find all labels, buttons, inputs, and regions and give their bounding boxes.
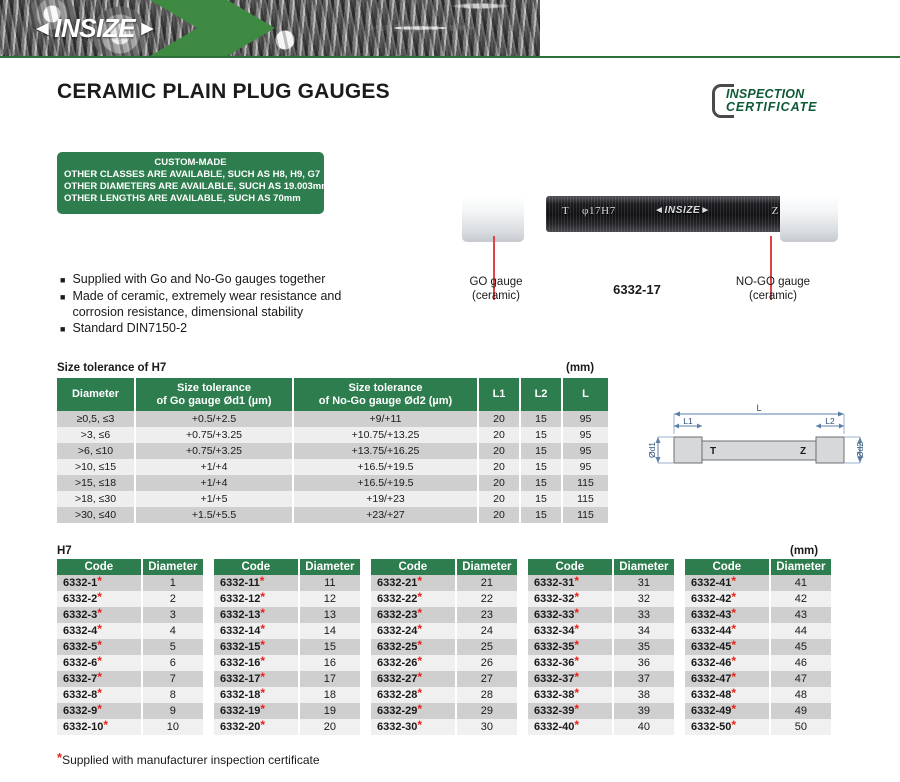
code-cell: 6332-22* xyxy=(371,591,456,607)
code-table-group: CodeDiameter6332-31*316332-32*326332-33*… xyxy=(528,559,674,735)
custom-made-title: CUSTOM-MADE xyxy=(64,157,317,169)
code-table-row: 6332-49*49 xyxy=(685,703,831,719)
code-value: 6332-4 xyxy=(63,625,97,637)
logo-wordmark: INSIZE xyxy=(54,13,135,44)
diameter-cell: 19 xyxy=(299,703,360,719)
td-l1: 20 xyxy=(478,491,520,507)
td-nogo: +9/+11 xyxy=(293,411,478,427)
diameter-cell: 31 xyxy=(613,575,674,591)
custom-made-line-1: OTHER CLASSES ARE AVAILABLE, SUCH AS H8,… xyxy=(64,169,317,181)
certificate-asterisk-icon: * xyxy=(574,702,579,716)
code-cell: 6332-7* xyxy=(57,671,142,687)
certificate-asterisk-icon: * xyxy=(574,606,579,620)
code-value: 6332-29 xyxy=(377,705,417,717)
code-value: 6332-26 xyxy=(377,657,417,669)
tolerance-row: ≥0,5, ≤3+0.5/+2.5+9/+11201595 xyxy=(57,411,608,427)
diameter-cell: 47 xyxy=(770,671,831,687)
code-table-row: 6332-14*14 xyxy=(214,623,360,639)
td-l2: 15 xyxy=(520,411,562,427)
diameter-cell: 21 xyxy=(456,575,517,591)
diameter-cell: 22 xyxy=(456,591,517,607)
diameter-cell: 15 xyxy=(299,639,360,655)
code-value: 6332-30 xyxy=(377,721,417,733)
code-value: 6332-2 xyxy=(63,593,97,605)
td-go: +1/+4 xyxy=(135,475,293,491)
code-value: 6332-32 xyxy=(534,593,574,605)
code-table-row: 6332-21*21 xyxy=(371,575,517,591)
diameter-cell: 20 xyxy=(299,719,360,735)
td-l2: 15 xyxy=(520,459,562,475)
code-value: 6332-14 xyxy=(220,625,260,637)
code-tables-unit-label: (mm) xyxy=(790,545,818,557)
code-table-row: 6332-22*22 xyxy=(371,591,517,607)
th-diameter: Diameter xyxy=(770,559,831,575)
code-value: 6332-43 xyxy=(691,609,731,621)
code-value: 6332-3 xyxy=(63,609,97,621)
code-table-row: 6332-4*4 xyxy=(57,623,203,639)
code-value: 6332-20 xyxy=(220,721,260,733)
footnote-text: Supplied with manufacturer inspection ce… xyxy=(62,753,319,767)
td-go: +1.5/+5.5 xyxy=(135,507,293,523)
code-cell: 6332-27* xyxy=(371,671,456,687)
tolerance-header-row: Diameter Size tolerance of Go gauge Ød1 … xyxy=(57,378,608,411)
nogo-gauge-label-line1: NO-GO gauge xyxy=(725,275,821,289)
code-table-row: 6332-31*31 xyxy=(528,575,674,591)
code-value: 6332-21 xyxy=(377,577,417,589)
code-value: 6332-45 xyxy=(691,641,731,653)
engraving-z: Z xyxy=(772,205,779,217)
code-table-row: 6332-34*34 xyxy=(528,623,674,639)
go-gauge-ceramic-tip xyxy=(462,186,524,242)
diameter-cell: 33 xyxy=(613,607,674,623)
code-value: 6332-6 xyxy=(63,657,97,669)
tolerance-table-caption: Size tolerance of H7 xyxy=(57,362,166,374)
certificate-asterisk-icon: * xyxy=(260,718,265,732)
diameter-cell: 2 xyxy=(142,591,203,607)
code-table-row: 6332-38*38 xyxy=(528,687,674,703)
td-go: +1/+5 xyxy=(135,491,293,507)
td-l: 115 xyxy=(562,491,608,507)
td-l2: 15 xyxy=(520,507,562,523)
diameter-cell: 42 xyxy=(770,591,831,607)
code-value: 6332-28 xyxy=(377,689,417,701)
code-value: 6332-27 xyxy=(377,673,417,685)
certificate-asterisk-icon: * xyxy=(731,622,736,636)
td-diameter: ≥0,5, ≤3 xyxy=(57,411,135,427)
td-diameter: >15, ≤18 xyxy=(57,475,135,491)
code-cell: 6332-41* xyxy=(685,575,770,591)
td-nogo: +13.75/+16.25 xyxy=(293,443,478,459)
code-value: 6332-47 xyxy=(691,673,731,685)
code-table-row: 6332-16*16 xyxy=(214,655,360,671)
code-cell: 6332-24* xyxy=(371,623,456,639)
code-value: 6332-5 xyxy=(63,641,97,653)
certificate-asterisk-icon: * xyxy=(731,670,736,684)
code-table-row: 6332-47*47 xyxy=(685,671,831,687)
technical-drawing: L L1 L2 T Z Ød1 Ød2 xyxy=(648,398,880,502)
code-cell: 6332-23* xyxy=(371,607,456,623)
certificate-asterisk-icon: * xyxy=(97,702,102,716)
tolerance-row: >15, ≤18+1/+4+16.5/+19.52015115 xyxy=(57,475,608,491)
code-value: 6332-16 xyxy=(220,657,260,669)
diameter-cell: 39 xyxy=(613,703,674,719)
bullet-square-icon: ■ xyxy=(60,289,65,320)
code-cell: 6332-17* xyxy=(214,671,299,687)
code-value: 6332-17 xyxy=(220,673,260,685)
td-nogo: +19/+23 xyxy=(293,491,478,507)
diameter-cell: 5 xyxy=(142,639,203,655)
diameter-cell: 35 xyxy=(613,639,674,655)
td-l: 95 xyxy=(562,411,608,427)
code-cell: 6332-19* xyxy=(214,703,299,719)
code-cell: 6332-3* xyxy=(57,607,142,623)
code-value: 6332-40 xyxy=(534,721,574,733)
code-table-row: 6332-48*48 xyxy=(685,687,831,703)
td-go: +1/+4 xyxy=(135,459,293,475)
td-diameter: >10, ≤15 xyxy=(57,459,135,475)
code-cell: 6332-38* xyxy=(528,687,613,703)
code-table-row: 6332-26*26 xyxy=(371,655,517,671)
diameter-cell: 28 xyxy=(456,687,517,703)
code-value: 6332-11 xyxy=(220,577,260,589)
code-value: 6332-24 xyxy=(377,625,417,637)
code-value: 6332-48 xyxy=(691,689,731,701)
code-value: 6332-23 xyxy=(377,609,417,621)
insize-logo: ◄ INSIZE ► xyxy=(32,13,157,44)
code-value: 6332-18 xyxy=(220,689,260,701)
custom-made-box: CUSTOM-MADE OTHER CLASSES ARE AVAILABLE,… xyxy=(57,152,324,214)
code-cell: 6332-39* xyxy=(528,703,613,719)
certificate-asterisk-icon: * xyxy=(260,622,265,636)
code-cell: 6332-10* xyxy=(57,719,142,735)
certificate-asterisk-icon: * xyxy=(97,622,102,636)
code-table-row: 6332-37*37 xyxy=(528,671,674,687)
code-table-row: 6332-7*7 xyxy=(57,671,203,687)
code-cell: 6332-5* xyxy=(57,639,142,655)
td-l1: 20 xyxy=(478,459,520,475)
code-cell: 6332-45* xyxy=(685,639,770,655)
certificate-asterisk-icon: * xyxy=(417,590,422,604)
code-table-row: 6332-5*5 xyxy=(57,639,203,655)
certificate-asterisk-icon: * xyxy=(574,638,579,652)
tolerance-row: >18, ≤30+1/+5+19/+232015115 xyxy=(57,491,608,507)
code-value: 6332-1 xyxy=(63,577,97,589)
go-gauge-label: GO gauge (ceramic) xyxy=(450,275,542,303)
td-go: +0.75/+3.25 xyxy=(135,443,293,459)
code-cell: 6332-43* xyxy=(685,607,770,623)
code-value: 6332-36 xyxy=(534,657,574,669)
code-cell: 6332-33* xyxy=(528,607,613,623)
code-table-row: 6332-44*44 xyxy=(685,623,831,639)
certificate-asterisk-icon: * xyxy=(417,686,422,700)
feature-item: ■ Made of ceramic, extremely wear resist… xyxy=(60,289,360,320)
drawing-svg: L L1 L2 T Z Ød1 Ød2 xyxy=(648,398,880,502)
th-nogo-line1: Size tolerance xyxy=(297,382,474,395)
th-go-tolerance: Size tolerance of Go gauge Ød1 (µm) xyxy=(135,378,293,411)
certificate-asterisk-icon: * xyxy=(97,654,102,668)
diameter-cell: 16 xyxy=(299,655,360,671)
product-code: 6332-17 xyxy=(582,282,692,297)
code-cell: 6332-6* xyxy=(57,655,142,671)
code-value: 6332-50 xyxy=(691,721,731,733)
tolerance-row: >30, ≤40+1.5/+5.5+23/+272015115 xyxy=(57,507,608,523)
td-nogo: +16.5/+19.5 xyxy=(293,459,478,475)
code-value: 6332-35 xyxy=(534,641,574,653)
diameter-cell: 7 xyxy=(142,671,203,687)
code-table-row: 6332-19*19 xyxy=(214,703,360,719)
engraving-brand: ◄INSIZE► xyxy=(654,205,711,216)
certificate-asterisk-icon: * xyxy=(574,622,579,636)
certificate-asterisk-icon: * xyxy=(574,670,579,684)
go-gauge-label-line1: GO gauge xyxy=(450,275,542,289)
th-nogo-line2: of No-Go gauge Ød2 (µm) xyxy=(297,395,474,408)
code-table-row: 6332-27*27 xyxy=(371,671,517,687)
th-nogo-tolerance: Size tolerance of No-Go gauge Ød2 (µm) xyxy=(293,378,478,411)
th-go-line1: Size tolerance xyxy=(139,382,289,395)
td-l: 115 xyxy=(562,475,608,491)
diameter-cell: 44 xyxy=(770,623,831,639)
code-value: 6332-41 xyxy=(691,577,731,589)
code-value: 6332-33 xyxy=(534,609,574,621)
certificate-asterisk-icon: * xyxy=(417,606,422,620)
code-table-row: 6332-17*17 xyxy=(214,671,360,687)
code-cell: 6332-49* xyxy=(685,703,770,719)
code-table-row: 6332-1*1 xyxy=(57,575,203,591)
page-title: CERAMIC PLAIN PLUG GAUGES xyxy=(57,80,390,104)
code-value: 6332-15 xyxy=(220,641,260,653)
code-value: 6332-25 xyxy=(377,641,417,653)
code-cell: 6332-46* xyxy=(685,655,770,671)
code-value: 6332-37 xyxy=(534,673,574,685)
code-header-row: CodeDiameter xyxy=(685,559,831,575)
code-value: 6332-7 xyxy=(63,673,97,685)
diameter-cell: 29 xyxy=(456,703,517,719)
diameter-cell: 49 xyxy=(770,703,831,719)
diameter-cell: 45 xyxy=(770,639,831,655)
logo-left-arrow-icon: ◄ xyxy=(32,18,52,39)
code-cell: 6332-9* xyxy=(57,703,142,719)
code-table-row: 6332-10*10 xyxy=(57,719,203,735)
code-cell: 6332-25* xyxy=(371,639,456,655)
diameter-cell: 3 xyxy=(142,607,203,623)
diameter-cell: 18 xyxy=(299,687,360,703)
diameter-cell: 27 xyxy=(456,671,517,687)
diameter-cell: 10 xyxy=(142,719,203,735)
certificate-asterisk-icon: * xyxy=(260,654,265,668)
th-l: L xyxy=(562,378,608,411)
code-cell: 6332-15* xyxy=(214,639,299,655)
td-diameter: >6, ≤10 xyxy=(57,443,135,459)
code-cell: 6332-8* xyxy=(57,687,142,703)
code-table: CodeDiameter6332-41*416332-42*426332-43*… xyxy=(685,559,831,735)
code-cell: 6332-47* xyxy=(685,671,770,687)
dim-label-l: L xyxy=(756,403,761,413)
tolerance-row: >10, ≤15+1/+4+16.5/+19.5201595 xyxy=(57,459,608,475)
diameter-cell: 48 xyxy=(770,687,831,703)
th-diameter: Diameter xyxy=(57,378,135,411)
code-table-row: 6332-15*15 xyxy=(214,639,360,655)
code-cell: 6332-13* xyxy=(214,607,299,623)
td-l1: 20 xyxy=(478,443,520,459)
dim-label-l2: L2 xyxy=(825,416,835,426)
certificate-asterisk-icon: * xyxy=(260,590,265,604)
drawing-mark-z: Z xyxy=(800,446,806,457)
code-cell: 6332-42* xyxy=(685,591,770,607)
code-table-row: 6332-36*36 xyxy=(528,655,674,671)
code-table-row: 6332-41*41 xyxy=(685,575,831,591)
td-diameter: >3, ≤6 xyxy=(57,427,135,443)
certificate-asterisk-icon: * xyxy=(97,574,102,588)
td-l1: 20 xyxy=(478,475,520,491)
td-l2: 15 xyxy=(520,443,562,459)
diameter-cell: 9 xyxy=(142,703,203,719)
th-code: Code xyxy=(371,559,456,575)
nogo-gauge-label: NO-GO gauge (ceramic) xyxy=(725,275,821,303)
certificate-asterisk-icon: * xyxy=(731,654,736,668)
th-code: Code xyxy=(57,559,142,575)
code-cell: 6332-11* xyxy=(214,575,299,591)
code-table-row: 6332-39*39 xyxy=(528,703,674,719)
certificate-asterisk-icon: * xyxy=(417,654,422,668)
td-l2: 15 xyxy=(520,475,562,491)
tolerance-row: >3, ≤6+0.75/+3.25+10.75/+13.25201595 xyxy=(57,427,608,443)
diameter-cell: 40 xyxy=(613,719,674,735)
banner-divider xyxy=(0,56,900,58)
th-diameter: Diameter xyxy=(299,559,360,575)
dim-label-d2: Ød2 xyxy=(855,442,865,458)
certificate-asterisk-icon: * xyxy=(574,574,579,588)
tolerance-unit-label: (mm) xyxy=(566,362,594,374)
code-cell: 6332-31* xyxy=(528,575,613,591)
certificate-asterisk-icon: * xyxy=(417,718,422,732)
feature-text: Standard DIN7150-2 xyxy=(72,321,187,337)
diameter-cell: 17 xyxy=(299,671,360,687)
certificate-asterisk-icon: * xyxy=(260,638,265,652)
code-table-row: 6332-35*35 xyxy=(528,639,674,655)
engraving-diameter: φ17H7 xyxy=(582,205,616,217)
custom-made-line-2: OTHER DIAMETERS ARE AVAILABLE, SUCH AS 1… xyxy=(64,181,317,193)
code-table-row: 6332-13*13 xyxy=(214,607,360,623)
diameter-cell: 34 xyxy=(613,623,674,639)
code-table-body: 6332-41*416332-42*426332-43*436332-44*44… xyxy=(685,575,831,735)
engraving-t: T xyxy=(562,205,569,217)
td-l: 95 xyxy=(562,443,608,459)
diameter-cell: 50 xyxy=(770,719,831,735)
feature-item: ■ Standard DIN7150-2 xyxy=(60,321,360,337)
code-table-row: 6332-9*9 xyxy=(57,703,203,719)
go-gauge-label-line2: (ceramic) xyxy=(450,289,542,303)
diameter-cell: 23 xyxy=(456,607,517,623)
certificate-asterisk-icon: * xyxy=(574,590,579,604)
bullet-square-icon: ■ xyxy=(60,272,65,288)
code-value: 6332-39 xyxy=(534,705,574,717)
page-header-banner: ◄ INSIZE ► xyxy=(0,0,900,58)
code-value: 6332-19 xyxy=(220,705,260,717)
code-cell: 6332-26* xyxy=(371,655,456,671)
certificate-asterisk-icon: * xyxy=(97,638,102,652)
diameter-cell: 4 xyxy=(142,623,203,639)
th-code: Code xyxy=(528,559,613,575)
code-table-body: 6332-31*316332-32*326332-33*336332-34*34… xyxy=(528,575,674,735)
custom-made-line-3: OTHER LENGTHS ARE AVAILABLE, SUCH AS 70m… xyxy=(64,193,317,205)
diameter-cell: 13 xyxy=(299,607,360,623)
td-l2: 15 xyxy=(520,427,562,443)
code-table-row: 6332-3*3 xyxy=(57,607,203,623)
td-l1: 20 xyxy=(478,411,520,427)
code-table-row: 6332-24*24 xyxy=(371,623,517,639)
code-table-body: 6332-1*16332-2*26332-3*36332-4*46332-5*5… xyxy=(57,575,203,735)
code-table-group: CodeDiameter6332-41*416332-42*426332-43*… xyxy=(685,559,831,735)
code-table-row: 6332-29*29 xyxy=(371,703,517,719)
diameter-cell: 46 xyxy=(770,655,831,671)
certificate-asterisk-icon: * xyxy=(574,686,579,700)
code-cell: 6332-28* xyxy=(371,687,456,703)
td-nogo: +10.75/+13.25 xyxy=(293,427,478,443)
code-tables-caption: H7 xyxy=(57,545,72,557)
code-table-body: 6332-21*216332-22*226332-23*236332-24*24… xyxy=(371,575,517,735)
code-table-row: 6332-32*32 xyxy=(528,591,674,607)
code-value: 6332-44 xyxy=(691,625,731,637)
code-table-row: 6332-18*18 xyxy=(214,687,360,703)
code-cell: 6332-16* xyxy=(214,655,299,671)
certificate-asterisk-icon: * xyxy=(731,590,736,604)
code-cell: 6332-12* xyxy=(214,591,299,607)
certificate-text: INSPECTION CERTIFICATE xyxy=(726,88,817,114)
td-nogo: +16.5/+19.5 xyxy=(293,475,478,491)
code-cell: 6332-4* xyxy=(57,623,142,639)
diameter-cell: 8 xyxy=(142,687,203,703)
code-table-row: 6332-50*50 xyxy=(685,719,831,735)
diameter-cell: 1 xyxy=(142,575,203,591)
nogo-gauge-label-line2: (ceramic) xyxy=(725,289,821,303)
certificate-asterisk-icon: * xyxy=(260,702,265,716)
product-photo: T φ17H7 ◄INSIZE► Z GO gauge (ceramic) NO… xyxy=(440,172,820,304)
certificate-asterisk-icon: * xyxy=(731,574,736,588)
th-diameter: Diameter xyxy=(142,559,203,575)
diameter-cell: 14 xyxy=(299,623,360,639)
code-table-row: 6332-30*30 xyxy=(371,719,517,735)
th-code: Code xyxy=(685,559,770,575)
td-l2: 15 xyxy=(520,491,562,507)
code-value: 6332-34 xyxy=(534,625,574,637)
certificate-asterisk-icon: * xyxy=(260,606,265,620)
code-table: CodeDiameter6332-31*316332-32*326332-33*… xyxy=(528,559,674,735)
td-diameter: >18, ≤30 xyxy=(57,491,135,507)
code-cell: 6332-14* xyxy=(214,623,299,639)
code-value: 6332-13 xyxy=(220,609,260,621)
certificate-asterisk-icon: * xyxy=(417,702,422,716)
code-cell: 6332-1* xyxy=(57,575,142,591)
code-header-row: CodeDiameter xyxy=(528,559,674,575)
logo-right-arrow-icon: ► xyxy=(137,18,157,39)
diameter-cell: 43 xyxy=(770,607,831,623)
td-diameter: >30, ≤40 xyxy=(57,507,135,523)
code-cell: 6332-44* xyxy=(685,623,770,639)
code-value: 6332-38 xyxy=(534,689,574,701)
code-cell: 6332-2* xyxy=(57,591,142,607)
code-table-row: 6332-45*45 xyxy=(685,639,831,655)
code-cell: 6332-36* xyxy=(528,655,613,671)
certificate-asterisk-icon: * xyxy=(417,622,422,636)
code-cell: 6332-37* xyxy=(528,671,613,687)
certificate-asterisk-icon: * xyxy=(574,654,579,668)
certificate-asterisk-icon: * xyxy=(731,718,736,732)
code-header-row: CodeDiameter xyxy=(214,559,360,575)
diameter-cell: 12 xyxy=(299,591,360,607)
diameter-cell: 32 xyxy=(613,591,674,607)
certificate-asterisk-icon: * xyxy=(417,638,422,652)
diameter-cell: 38 xyxy=(613,687,674,703)
